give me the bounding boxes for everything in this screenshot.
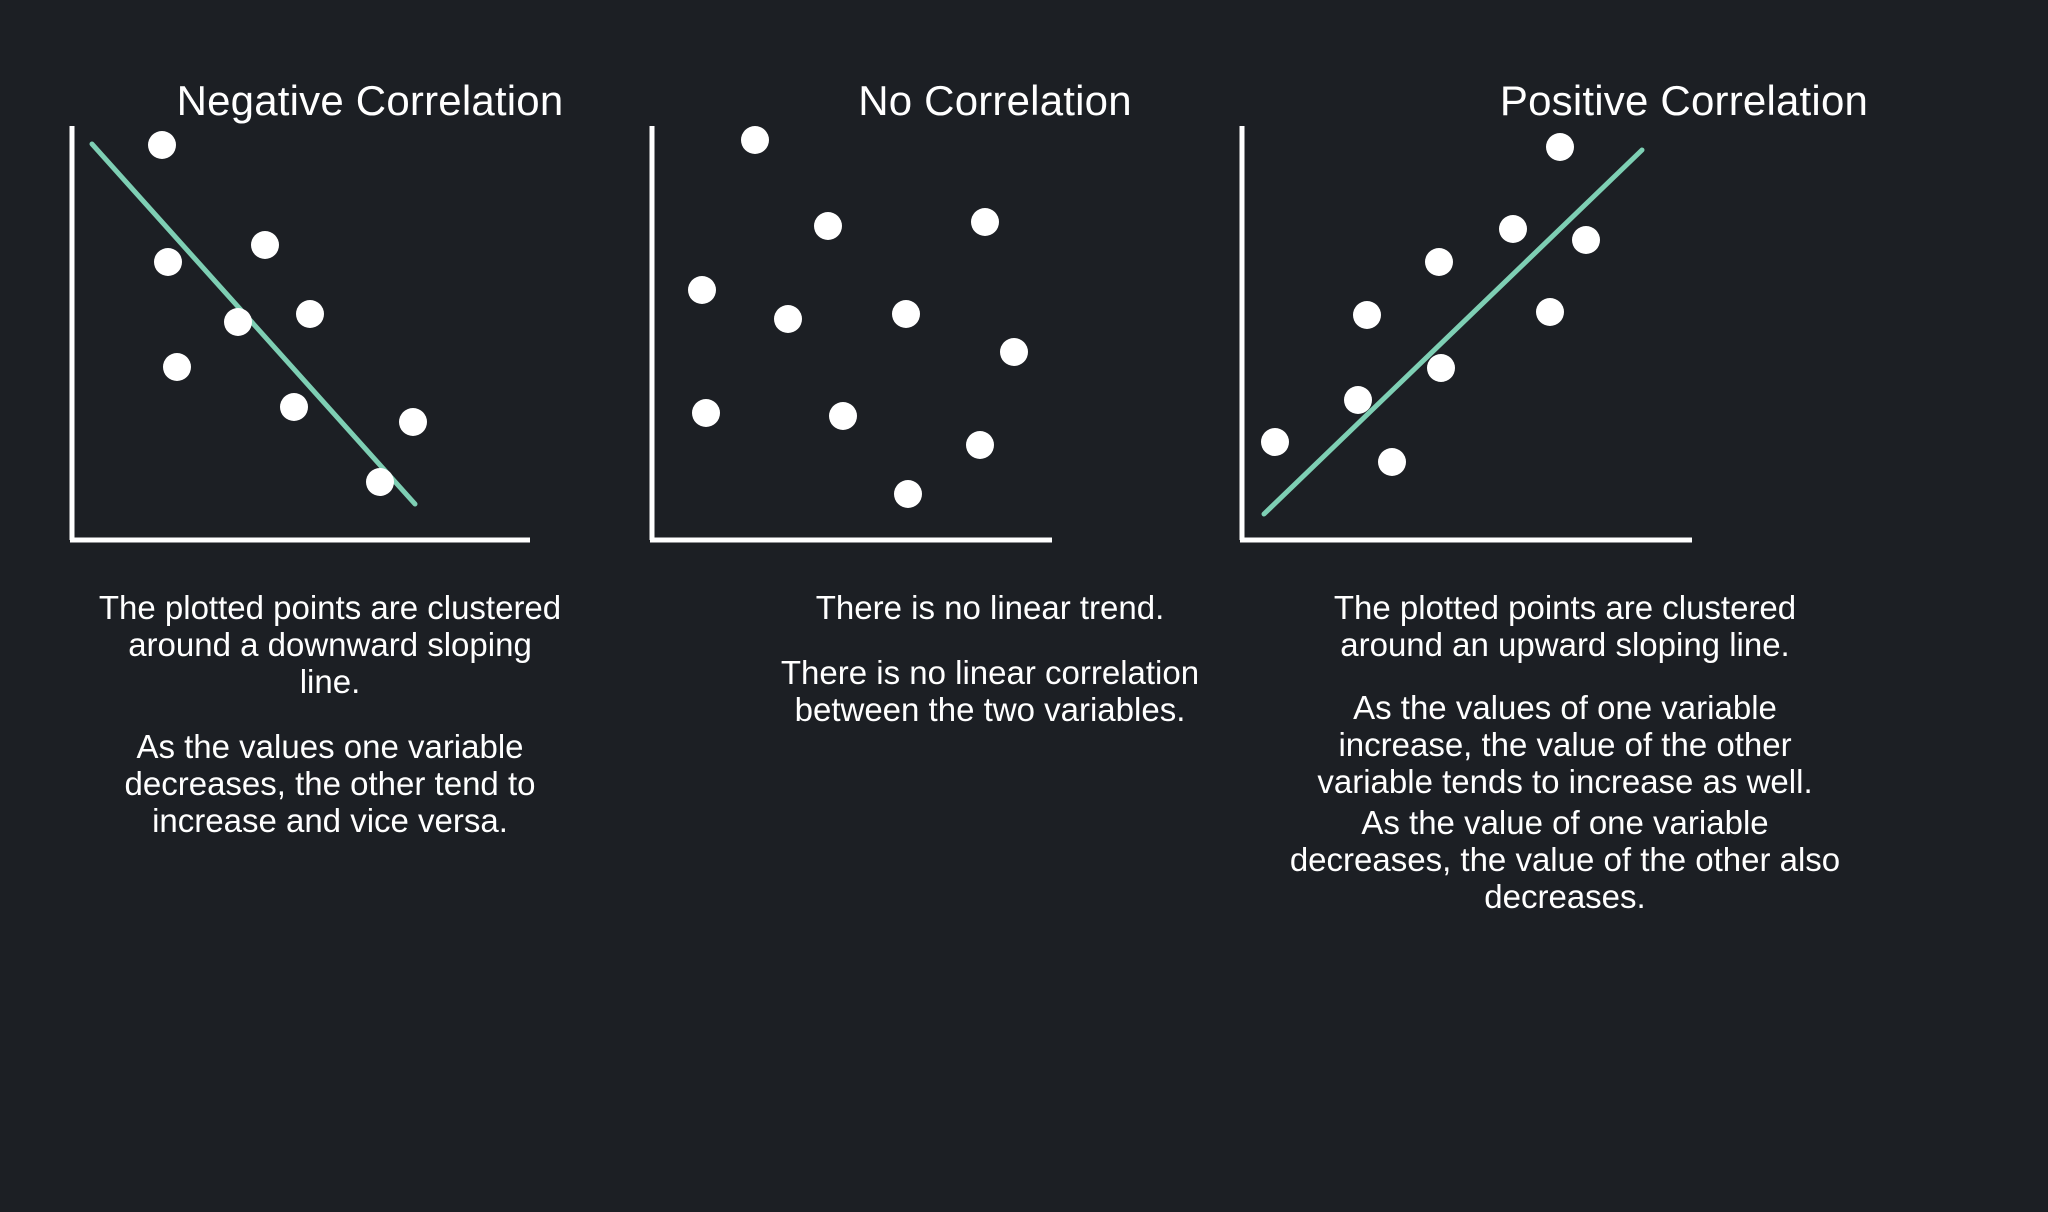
panel-title-no-correlation: No Correlation <box>760 80 1230 122</box>
plot-svg-positive <box>1230 122 1700 552</box>
data-point <box>1344 386 1372 414</box>
panel-no-correlation: No Correlation <box>640 0 1230 729</box>
data-point <box>692 399 720 427</box>
data-point <box>971 208 999 236</box>
data-point <box>251 231 279 259</box>
panel-title-negative: Negative Correlation <box>100 80 640 122</box>
panel-title-positive: Positive Correlation <box>1320 80 2048 122</box>
scatter-plot-positive <box>1230 122 2048 552</box>
data-point <box>1572 226 1600 254</box>
data-point <box>280 393 308 421</box>
data-point <box>741 126 769 154</box>
data-points-negative <box>148 131 427 496</box>
data-point <box>892 300 920 328</box>
data-point <box>829 402 857 430</box>
data-point <box>1427 354 1455 382</box>
scatter-plot-no-correlation <box>640 122 1230 552</box>
panel-negative-correlation: Negative Correlation <box>0 0 640 840</box>
caption-line: There is no linear trend. <box>750 590 1230 627</box>
data-point <box>966 431 994 459</box>
scatter-plot-negative <box>60 122 640 552</box>
trendline-positive <box>1264 150 1642 514</box>
caption-line: The plotted points are clustered around … <box>1285 590 1845 664</box>
data-point <box>224 308 252 336</box>
data-point <box>1000 338 1028 366</box>
data-point <box>148 131 176 159</box>
data-points-no-correlation <box>688 126 1028 508</box>
caption-line: There is no linear correlation between t… <box>750 655 1230 729</box>
caption-line: As the value of one variable decreases, … <box>1285 805 1845 916</box>
panels-container: Negative Correlation <box>0 0 2048 1212</box>
plot-svg-negative <box>60 122 540 552</box>
infographic-root: Negative Correlation <box>0 0 2048 1212</box>
caption-line: The plotted points are clustered around … <box>95 590 565 701</box>
data-point <box>154 248 182 276</box>
data-points-positive <box>1261 133 1600 476</box>
caption-line: As the values of one variable increase, … <box>1285 690 1845 801</box>
panel-positive-correlation: Positive Correlation <box>1230 0 2048 916</box>
caption-positive: The plotted points are clustered around … <box>1285 590 1845 916</box>
caption-negative: The plotted points are clustered around … <box>95 590 565 840</box>
caption-line: As the values one variable decreases, th… <box>95 729 565 840</box>
data-point <box>366 468 394 496</box>
plot-svg-no-correlation <box>640 122 1060 552</box>
data-point <box>814 212 842 240</box>
data-point <box>1536 298 1564 326</box>
trendline-negative <box>92 144 415 504</box>
data-point <box>1499 215 1527 243</box>
data-point <box>894 480 922 508</box>
data-point <box>1261 428 1289 456</box>
data-point <box>1353 301 1381 329</box>
caption-no-correlation: There is no linear trend. There is no li… <box>750 590 1230 729</box>
data-point <box>296 300 324 328</box>
data-point <box>1546 133 1574 161</box>
data-point <box>163 353 191 381</box>
data-point <box>1378 448 1406 476</box>
data-point <box>1425 248 1453 276</box>
data-point <box>688 276 716 304</box>
data-point <box>399 408 427 436</box>
data-point <box>774 305 802 333</box>
